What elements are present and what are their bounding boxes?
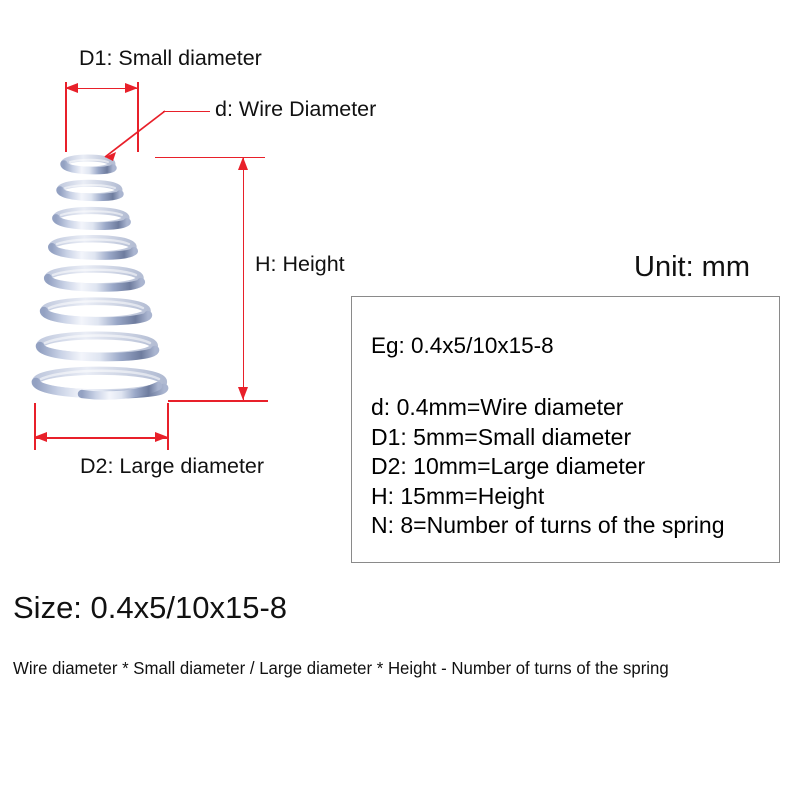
legend-item-small-diameter: D1: 5mm=Small diameter [371,423,724,453]
spring-dimension-diagram: D1: Small diameter d: Wire Diameter H: H… [0,0,800,800]
unit-note: Unit: mm [634,253,750,282]
d2-extension-line-left [34,403,36,450]
h-arrow-down-icon [238,387,248,400]
d2-dimension-line [34,437,168,439]
h-extension-line-top [155,157,265,159]
wire-diameter-label: d: Wire Diameter [215,99,376,121]
height-label: H: Height [255,254,345,276]
legend-item-wire-diameter: d: 0.4mm=Wire diameter [371,393,724,423]
d2-arrow-right-icon [155,432,168,442]
legend-example-line: Eg: 0.4x5/10x15-8 [371,335,554,358]
legend-item-list: d: 0.4mm=Wire diameter D1: 5mm=Small dia… [371,393,724,541]
h-extension-line-bottom [168,400,268,402]
d2-extension-line-right [167,403,169,450]
legend-item-height: H: 15mm=Height [371,482,724,512]
conical-spring-image [18,148,183,406]
legend-box: Eg: 0.4x5/10x15-8 d: 0.4mm=Wire diameter… [351,296,780,563]
formula-line: Wire diameter * Small diameter / Large d… [13,660,669,677]
d2-arrow-left-icon [34,432,47,442]
legend-item-large-diameter: D2: 10mm=Large diameter [371,452,724,482]
d1-label: D1: Small diameter [79,48,262,70]
legend-item-turns: N: 8=Number of turns of the spring [371,511,724,541]
d1-arrow-right-icon [125,83,138,93]
h-arrow-up-icon [238,157,248,170]
h-dimension-line [243,157,245,400]
size-line: Size: 0.4x5/10x15-8 [13,592,287,623]
d1-arrow-left-icon [65,83,78,93]
d2-label: D2: Large diameter [80,456,264,478]
